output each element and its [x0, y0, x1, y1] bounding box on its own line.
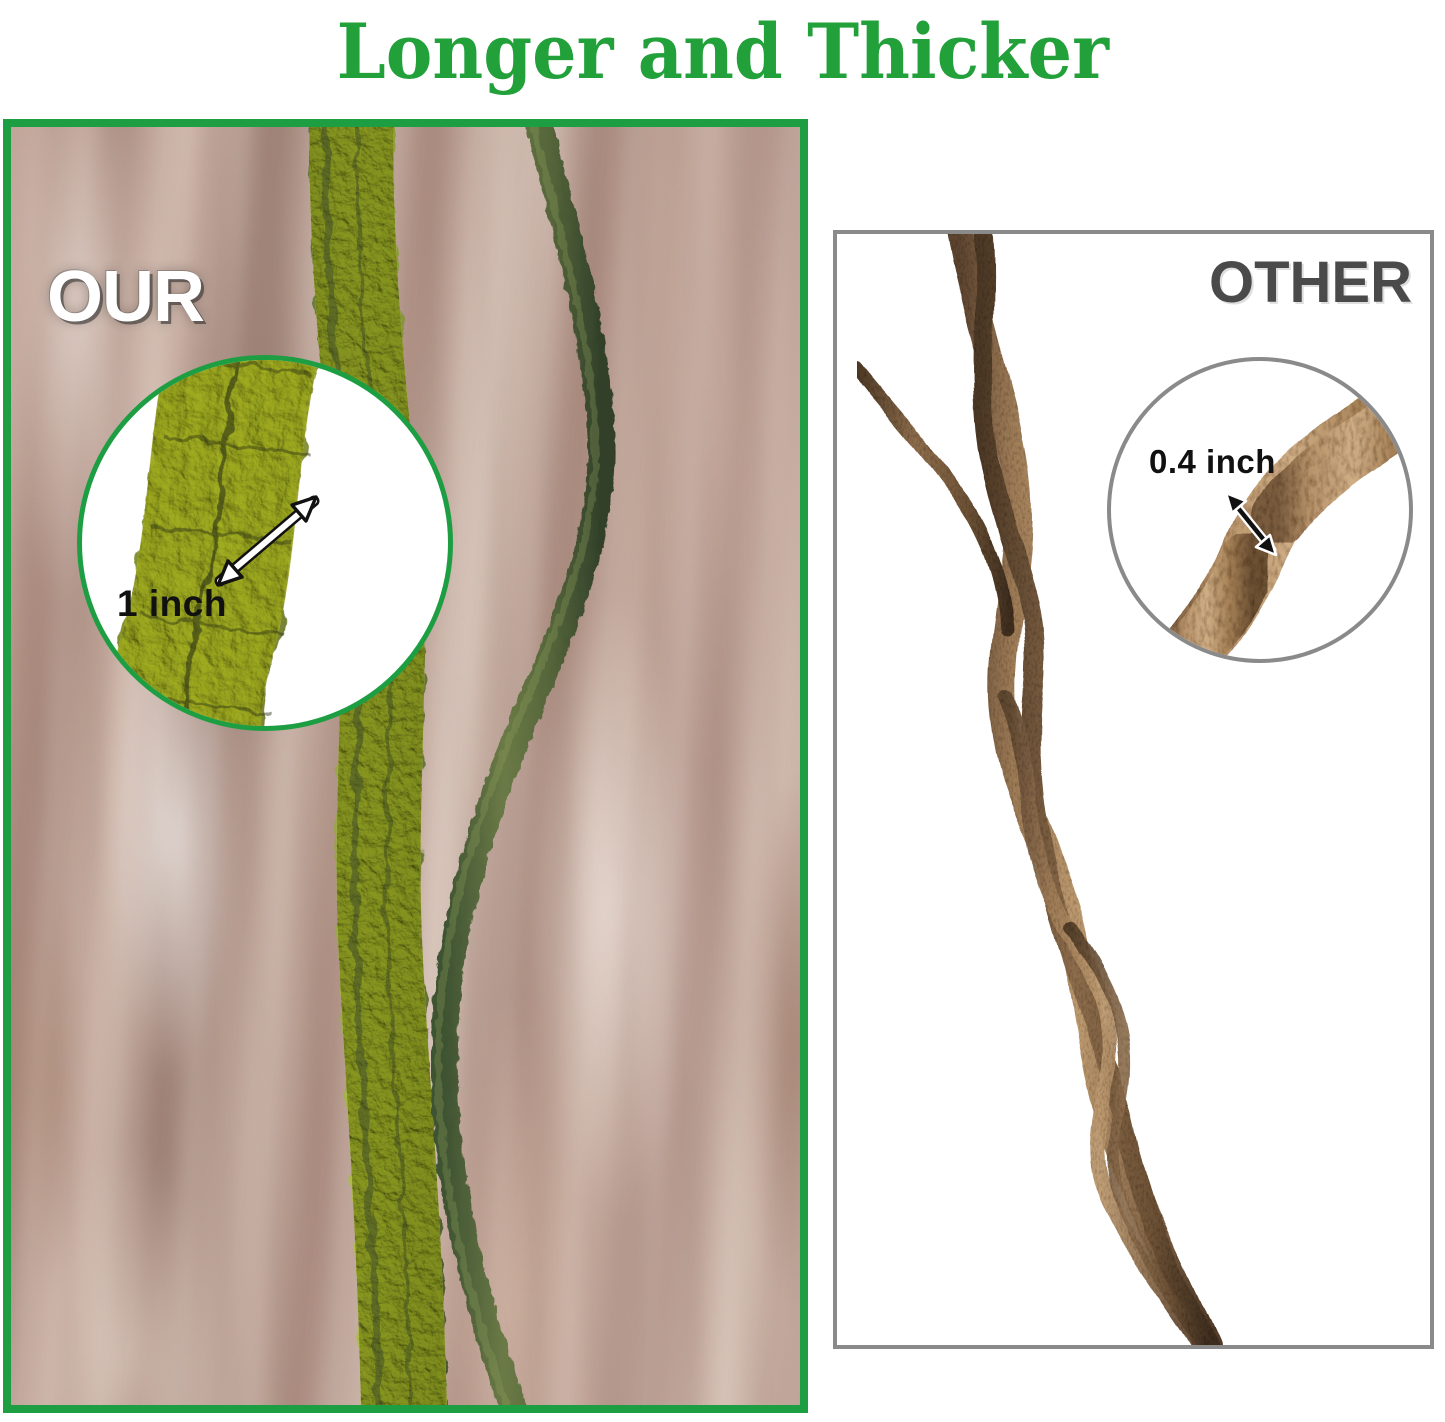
- page-title-bar: Longer and Thicker: [0, 0, 1445, 110]
- our-measurement-label: 1 inch: [117, 583, 227, 625]
- our-product-panel: OUR: [3, 119, 808, 1413]
- thin-green-vine: [431, 127, 661, 1405]
- other-magnifier-circle: 0.4 inch: [1107, 357, 1413, 663]
- our-measurement-arrow-icon: [202, 485, 332, 595]
- our-label: OUR: [47, 258, 204, 336]
- other-measurement-arrow-icon: [1216, 484, 1286, 564]
- other-product-panel: OTHER: [833, 230, 1434, 1349]
- our-magnifier-circle: 1 inch: [77, 355, 453, 731]
- other-label: OTHER: [1209, 252, 1412, 314]
- page-title: Longer and Thicker: [336, 12, 1108, 92]
- other-measurement-label: 0.4 inch: [1149, 443, 1276, 481]
